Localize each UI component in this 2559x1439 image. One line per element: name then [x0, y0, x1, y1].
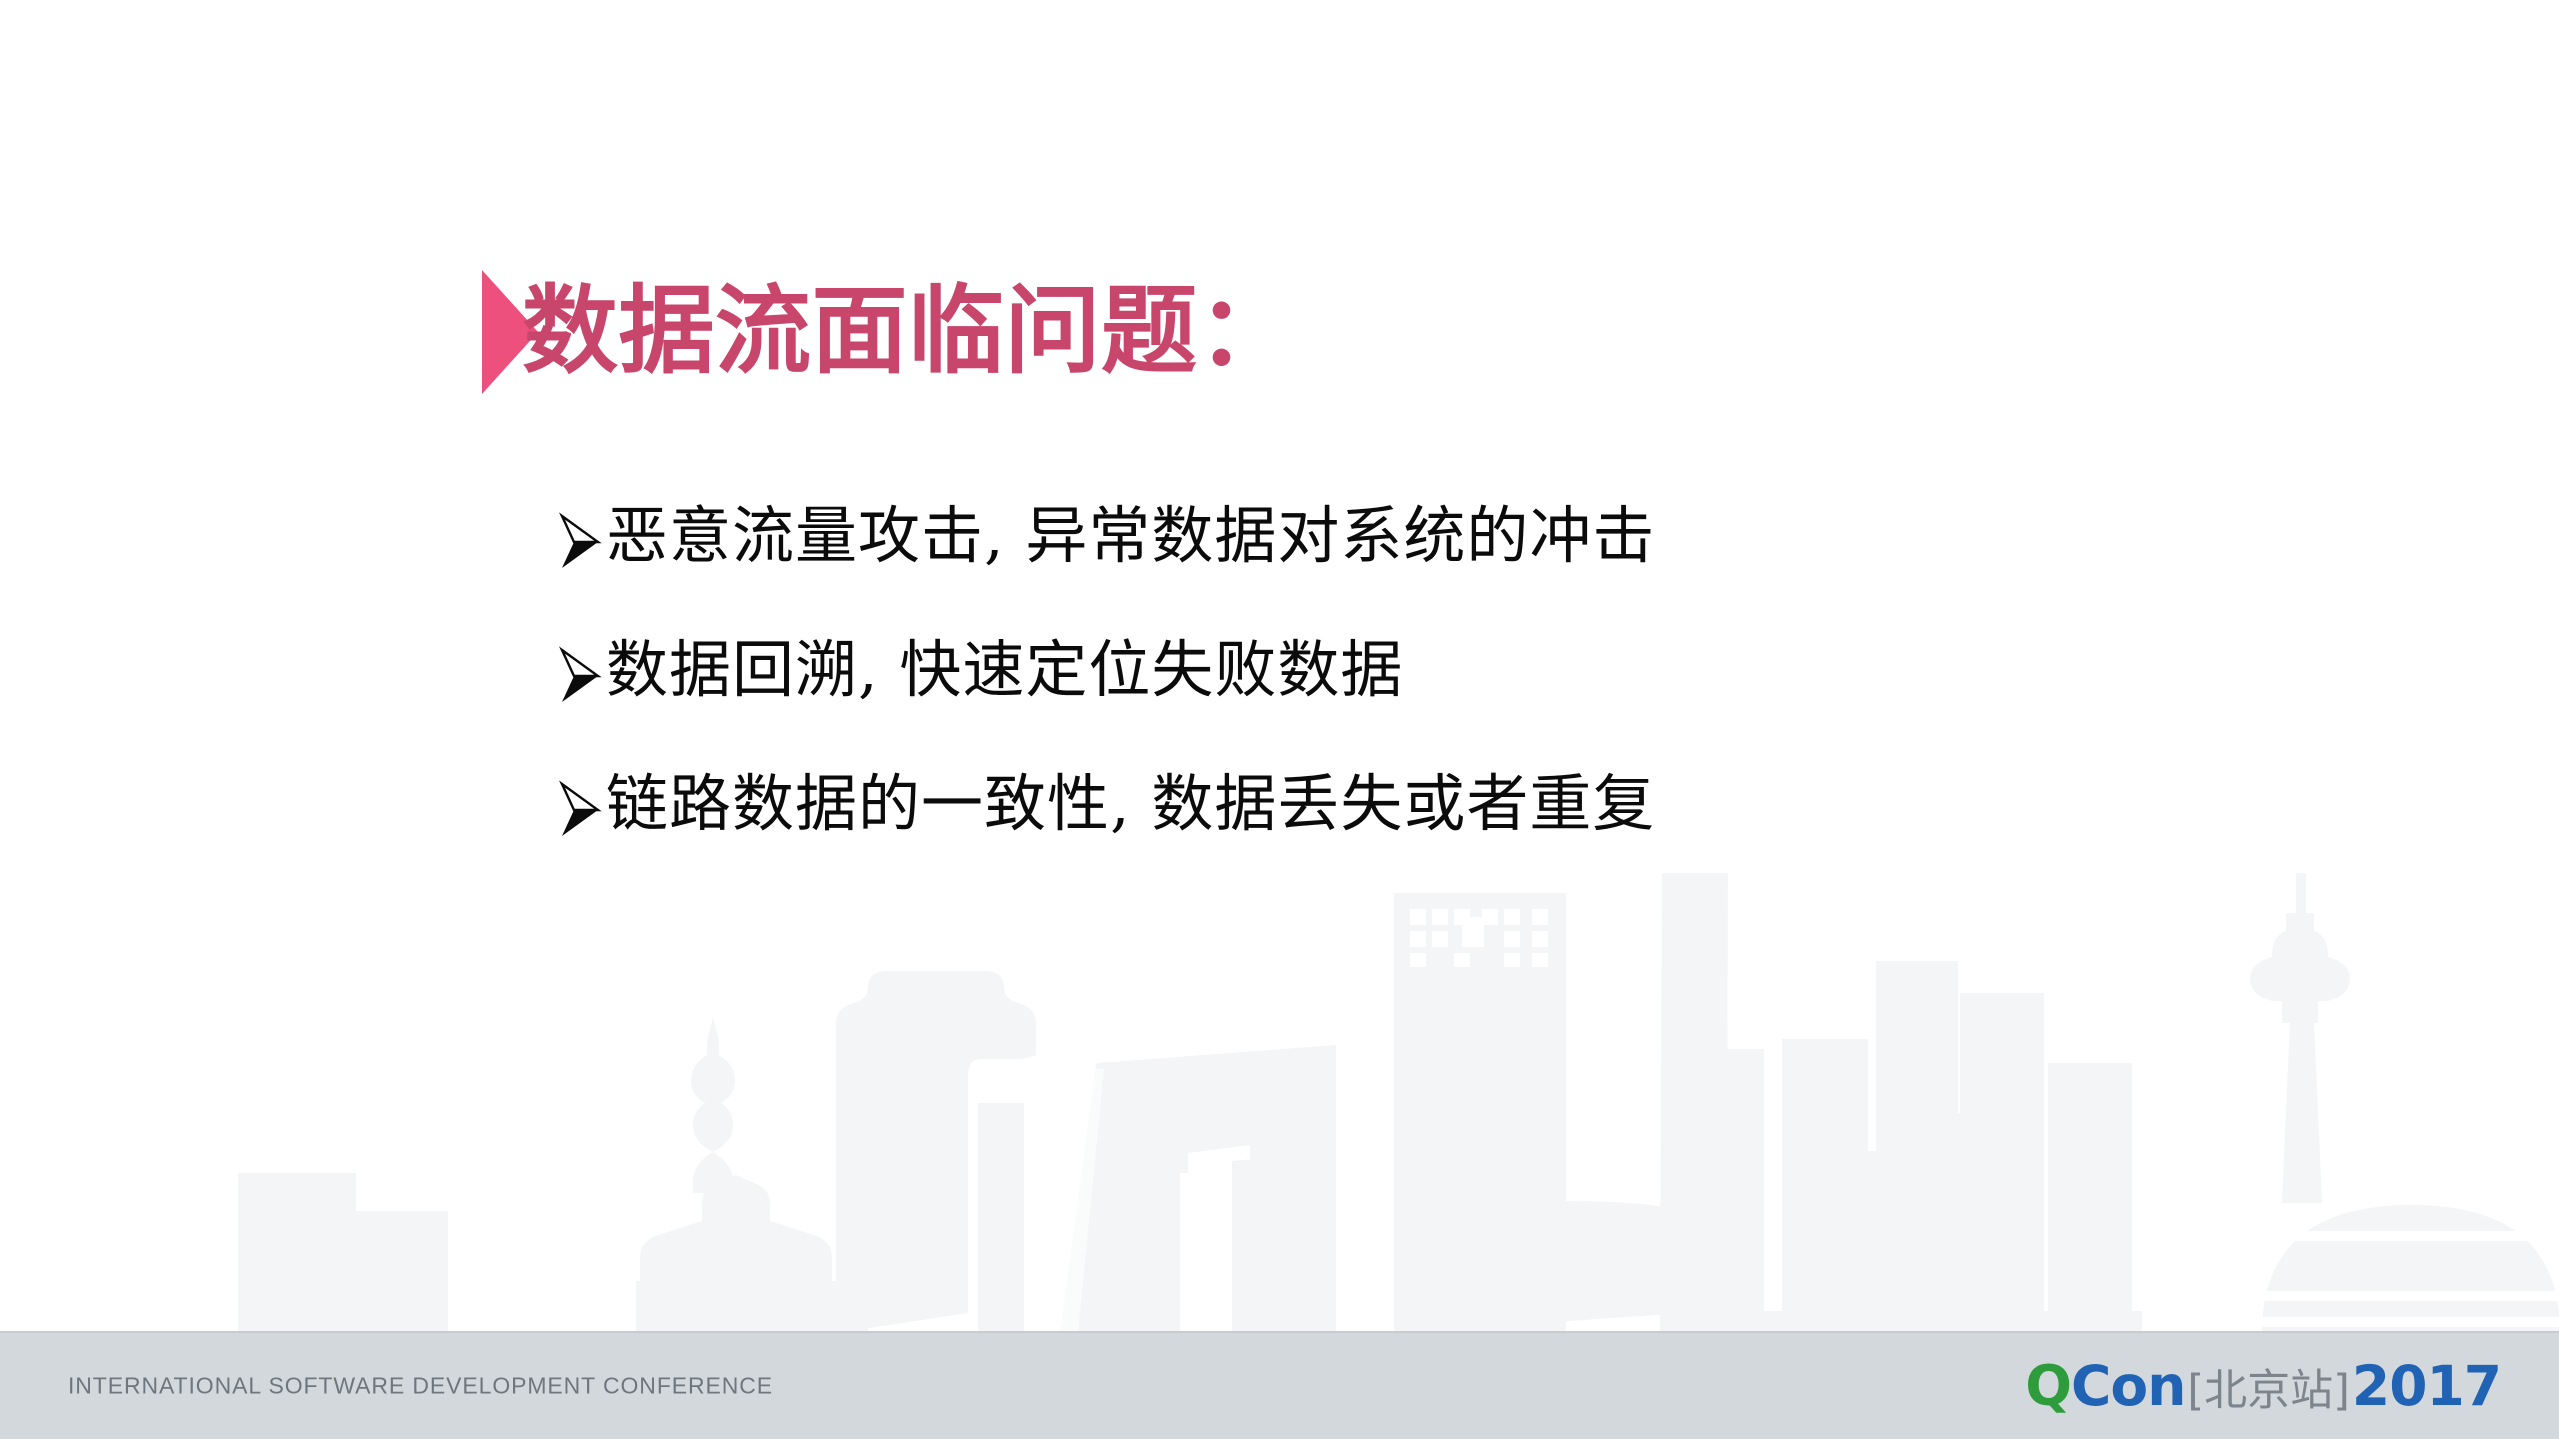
arrowhead-right-bullet-icon — [556, 774, 602, 846]
list-item: 链路数据的一致性, 数据丢失或者重复 — [556, 768, 1655, 840]
list-item-label: 数据回溯, 快速定位失败数据 — [606, 634, 1403, 706]
qcon-logo: Q Con [北京站] 2017 — [2025, 1354, 2501, 1418]
bullet-list: 恶意流量攻击, 异常数据对系统的冲击 数据回溯, 快速定位失败数据 链路数据的一… — [556, 500, 1655, 840]
beijing-skyline-watermark — [0, 873, 2559, 1333]
conference-tagline: INTERNATIONAL SOFTWARE DEVELOPMENT CONFE… — [68, 1373, 773, 1400]
qcon-logo-year: 2017 — [2352, 1354, 2501, 1418]
qcon-logo-city: [北京站] — [2187, 1356, 2350, 1418]
qcon-logo-q: Q — [2025, 1354, 2071, 1418]
arrowhead-right-bullet-icon — [556, 640, 602, 712]
list-item-label: 恶意流量攻击, 异常数据对系统的冲击 — [606, 500, 1655, 572]
slide-title-row: 数据流面临问题： — [482, 270, 1294, 394]
qcon-logo-con: Con — [2071, 1354, 2185, 1418]
list-item: 恶意流量攻击, 异常数据对系统的冲击 — [556, 500, 1655, 572]
page-title: 数据流面临问题： — [522, 278, 1294, 386]
slide-footer: INTERNATIONAL SOFTWARE DEVELOPMENT CONFE… — [0, 1331, 2559, 1439]
list-item: 数据回溯, 快速定位失败数据 — [556, 634, 1655, 706]
list-item-label: 链路数据的一致性, 数据丢失或者重复 — [606, 768, 1655, 840]
slide-canvas: 数据流面临问题： 恶意流量攻击, 异常数据对系统的冲击 数据回溯, 快速定位失败… — [0, 0, 2559, 1439]
arrowhead-right-bullet-icon — [556, 506, 602, 578]
